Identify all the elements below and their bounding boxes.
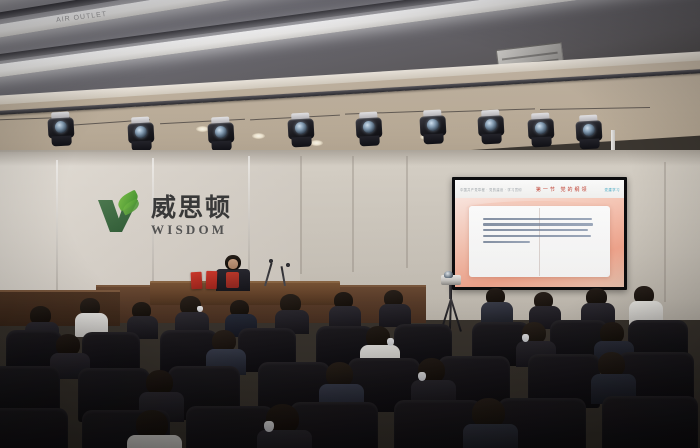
tripod-video-camera — [436, 275, 470, 330]
attendee — [180, 296, 210, 330]
slide-text-line — [483, 223, 593, 225]
attendee — [384, 290, 412, 322]
attendee — [146, 370, 184, 414]
moving-head-light — [355, 111, 383, 146]
attendee — [280, 294, 310, 328]
moving-head-light — [575, 114, 603, 149]
microphone-head — [269, 259, 273, 263]
attendee — [80, 298, 110, 332]
wall-panel-seam — [406, 156, 408, 268]
attendee — [634, 286, 664, 320]
attendee — [486, 288, 514, 320]
camera-lens-icon — [444, 271, 453, 278]
moving-head-light — [47, 111, 75, 146]
wall-panel-seam — [300, 156, 302, 274]
moving-head-light — [287, 112, 315, 147]
moving-head-light — [127, 116, 155, 151]
wall-top-shadow — [0, 150, 700, 166]
face-mask — [197, 306, 203, 312]
wall-panel-seam — [56, 160, 58, 295]
attendee — [326, 362, 364, 406]
wall-logo: 威思顿 WISDOM — [98, 192, 232, 238]
attendee — [418, 358, 456, 402]
slide-text-line — [483, 235, 591, 237]
attendee — [266, 404, 312, 448]
face-mask — [387, 338, 394, 346]
moving-head-light — [419, 109, 447, 144]
wall-panel-seam — [664, 162, 666, 302]
projection-screen: 中国共产党章程 · 党的建设 · 学习贯彻 第一节 党的纲领 党建学习 — [452, 177, 627, 290]
downlight — [252, 133, 265, 139]
speaker-person — [214, 255, 254, 289]
auditorium-seat — [602, 396, 698, 448]
moving-head-light — [527, 112, 555, 147]
attendee — [136, 410, 182, 448]
face-mask — [418, 372, 426, 381]
logo-chinese-text: 威思顿 — [151, 195, 232, 220]
attendee — [472, 398, 518, 448]
slide-brand-label: 党建学习 — [604, 187, 620, 192]
open-book-graphic — [469, 206, 611, 277]
auditorium-seat — [0, 408, 68, 448]
slide-header: 中国共产党章程 · 党的建设 · 学习贯彻 第一节 党的纲领 党建学习 — [455, 180, 624, 198]
slide-text-line — [483, 218, 592, 220]
red-booklet — [191, 272, 203, 290]
slide-text-line — [483, 229, 589, 231]
tripod-column — [449, 285, 452, 299]
projection-screen-content: 中国共产党章程 · 党的建设 · 学习贯彻 第一节 党的纲领 党建学习 — [455, 180, 624, 287]
attendee — [586, 288, 616, 322]
slide-body — [455, 198, 624, 287]
attendee — [212, 330, 246, 368]
slide-breadcrumb: 中国共产党章程 · 党的建设 · 学习贯彻 — [460, 187, 522, 192]
conference-hall-photo: AIR OUTLET — [0, 0, 700, 448]
microphone-head — [286, 263, 290, 267]
attendee — [334, 292, 362, 324]
logo-english-text: WISDOM — [151, 223, 232, 236]
wall-panel-seam — [352, 156, 354, 272]
face-mask — [264, 421, 274, 432]
red-booklet — [206, 271, 218, 289]
attendee — [598, 352, 636, 396]
speaker-red-vest — [226, 272, 239, 288]
tripod-leg — [449, 299, 452, 329]
speaker-face — [228, 259, 238, 269]
slide-text-line — [483, 241, 531, 243]
slide-text-block — [483, 218, 597, 247]
attendee — [56, 334, 90, 372]
wisdom-leaf-icon — [98, 192, 144, 238]
attendee — [132, 302, 160, 334]
slide-heading: 第一节 党的纲领 — [536, 186, 589, 193]
face-mask — [522, 334, 529, 342]
moving-head-light — [207, 116, 235, 151]
moving-head-light — [477, 109, 505, 144]
